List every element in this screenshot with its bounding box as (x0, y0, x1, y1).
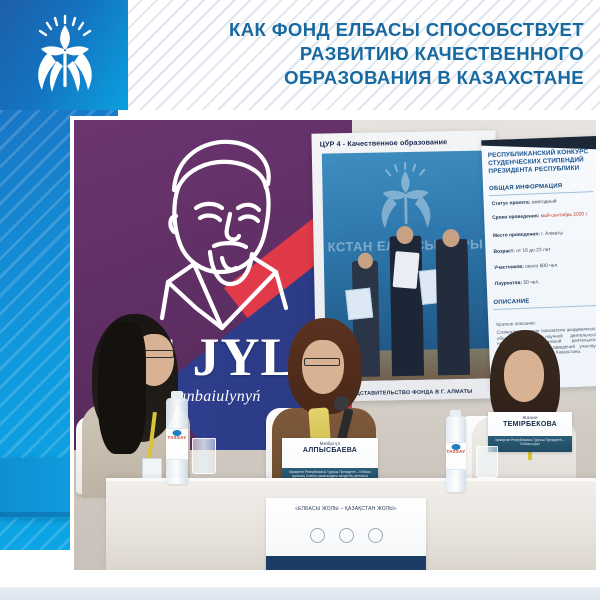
water-bottle-left-cap (171, 391, 183, 399)
info-row-dates: Сроки проведения: май-сентябрь 2020 г. (492, 212, 598, 222)
page-title: КАК ФОНД ЕЛБАСЫ СПОСОБСТВУЕТ РАЗВИТИЮ КА… (172, 18, 584, 90)
info-row-status-label: Статус проекта: (492, 201, 531, 207)
torch-icon (368, 528, 383, 543)
info-row-laureates-label: Лауреатов: (495, 281, 522, 287)
water-bottle-left-label: TASSAY (166, 428, 188, 460)
info-row-status-value: ежегодный (532, 200, 557, 206)
info-row-age-label: Возраст: (493, 249, 515, 255)
conference-photograph: 5 JYL nanbaiulynyń ЦУР 4 - Качественное … (70, 116, 600, 574)
info-row-place: Место проведения: г. Алматы (493, 230, 599, 240)
nameplate-right-subtitle: Қазақстан Республикасы Тұңғыш Президенті… (491, 438, 569, 446)
water-bottle-right-cap (450, 410, 461, 417)
water-bottle-right-brand: TASSAY (446, 449, 466, 454)
water-bottle-left-brand: TASSAY (166, 435, 188, 440)
table-placard-icons (266, 528, 426, 543)
info-rule-1 (489, 191, 593, 196)
nameplate-center-first-name: Мейіргүл (282, 441, 378, 446)
title-line-2: РАЗВИТИЮ КАЧЕСТВЕННОГО (172, 42, 584, 66)
table-placard-blue-band (266, 556, 426, 570)
table-placard-text: «ЕЛБАСЫ ЖОЛЫ – ҚАЗАҚСТАН ЖОЛЫ» (272, 506, 420, 513)
water-bottle-left: TASSAY (166, 398, 188, 484)
lotus-flame-logo-icon (26, 12, 104, 98)
info-panel-title: РЕСПУБЛИКАНСКИЙ КОНКУРС СТУДЕНЧЕСКИХ СТИ… (488, 148, 597, 176)
title-line-3: ОБРАЗОВАНИЯ В КАЗАХСТАНЕ (172, 66, 584, 90)
info-row-age: Возраст: от 16 до 23 лет (493, 246, 599, 256)
nameplate-right-subtitle-band: Қазақстан Республикасы Тұңғыш Президенті… (488, 436, 572, 452)
photo-area: 5 JYL nanbaiulynyń ЦУР 4 - Качественное … (0, 110, 600, 586)
nameplate-center-last-name: АЛПЫСБАЕВА (282, 447, 378, 454)
info-row-participants-label: Участников: (494, 265, 524, 271)
nameplate-right-first-name: Жания (488, 415, 572, 420)
info-section-general: ОБЩАЯ ИНФОРМАЦИЯ (489, 182, 595, 192)
info-row-participants: Участников: около 500 чел. (494, 262, 600, 272)
panelist-center-glasses (304, 358, 340, 366)
info-rule-2 (494, 305, 598, 310)
water-bottle-right-label: TASSAY (446, 442, 466, 470)
nameplate-right: Жания ТЕМІРБЕКОВА Қазақстан Республикасы… (488, 412, 572, 452)
info-row-place-value: г. Алматы (541, 231, 563, 237)
info-row-dates-label: Сроки проведения: (492, 214, 539, 221)
panelist-right-face (504, 350, 544, 402)
info-row-place-label: Место проведения: (493, 232, 540, 239)
drinking-glass-right (476, 446, 498, 478)
panelist-left-glasses (142, 350, 174, 358)
book-icon (339, 528, 354, 543)
panelist-center-microphone-head (334, 396, 349, 411)
info-row-dates-value: май-сентябрь 2020 г. (541, 212, 589, 219)
screen-figure-2-sash (393, 251, 420, 289)
panelist-center-face (302, 340, 344, 394)
header-banner: КАК ФОНД ЕЛБАСЫ СПОСОБСТВУЕТ РАЗВИТИЮ КА… (0, 0, 600, 110)
circle-emblem-icon (310, 528, 325, 543)
water-bottle-right: TASSAY (446, 416, 466, 492)
screen-figure-3 (435, 239, 470, 376)
info-row-age-value: от 16 до 23 лет (516, 248, 551, 254)
promo-graphic-stage: КАК ФОНД ЕЛБАСЫ СПОСОБСТВУЕТ РАЗВИТИЮ КА… (0, 0, 600, 600)
info-row-laureates: Лауреатов: 50 чел. (495, 278, 600, 288)
info-row-status: Статус проекта: ежегодный (492, 198, 598, 208)
screen-slide-title: ЦУР 4 - Качественное образование (320, 136, 490, 148)
foundation-emblem-icon (368, 159, 443, 234)
info-row-laureates-value: 50 чел. (523, 280, 539, 286)
title-line-1: КАК ФОНД ЕЛБАСЫ СПОСОБСТВУЕТ (172, 18, 584, 42)
table-placard: «ЕЛБАСЫ ЖОЛЫ – ҚАЗАҚСТАН ЖОЛЫ» (266, 498, 426, 570)
abai-qunanbaiuly-portrait-icon (126, 132, 316, 337)
info-row-participants-value: около 500 чел. (525, 263, 559, 269)
footer-bar (0, 586, 600, 600)
info-section-description: ОПИСАНИЕ (493, 296, 599, 306)
nameplate-right-last-name: ТЕМІРБЕКОВА (488, 421, 572, 428)
panelist-left-hair-front (98, 322, 146, 454)
drinking-glass-left (192, 438, 216, 474)
